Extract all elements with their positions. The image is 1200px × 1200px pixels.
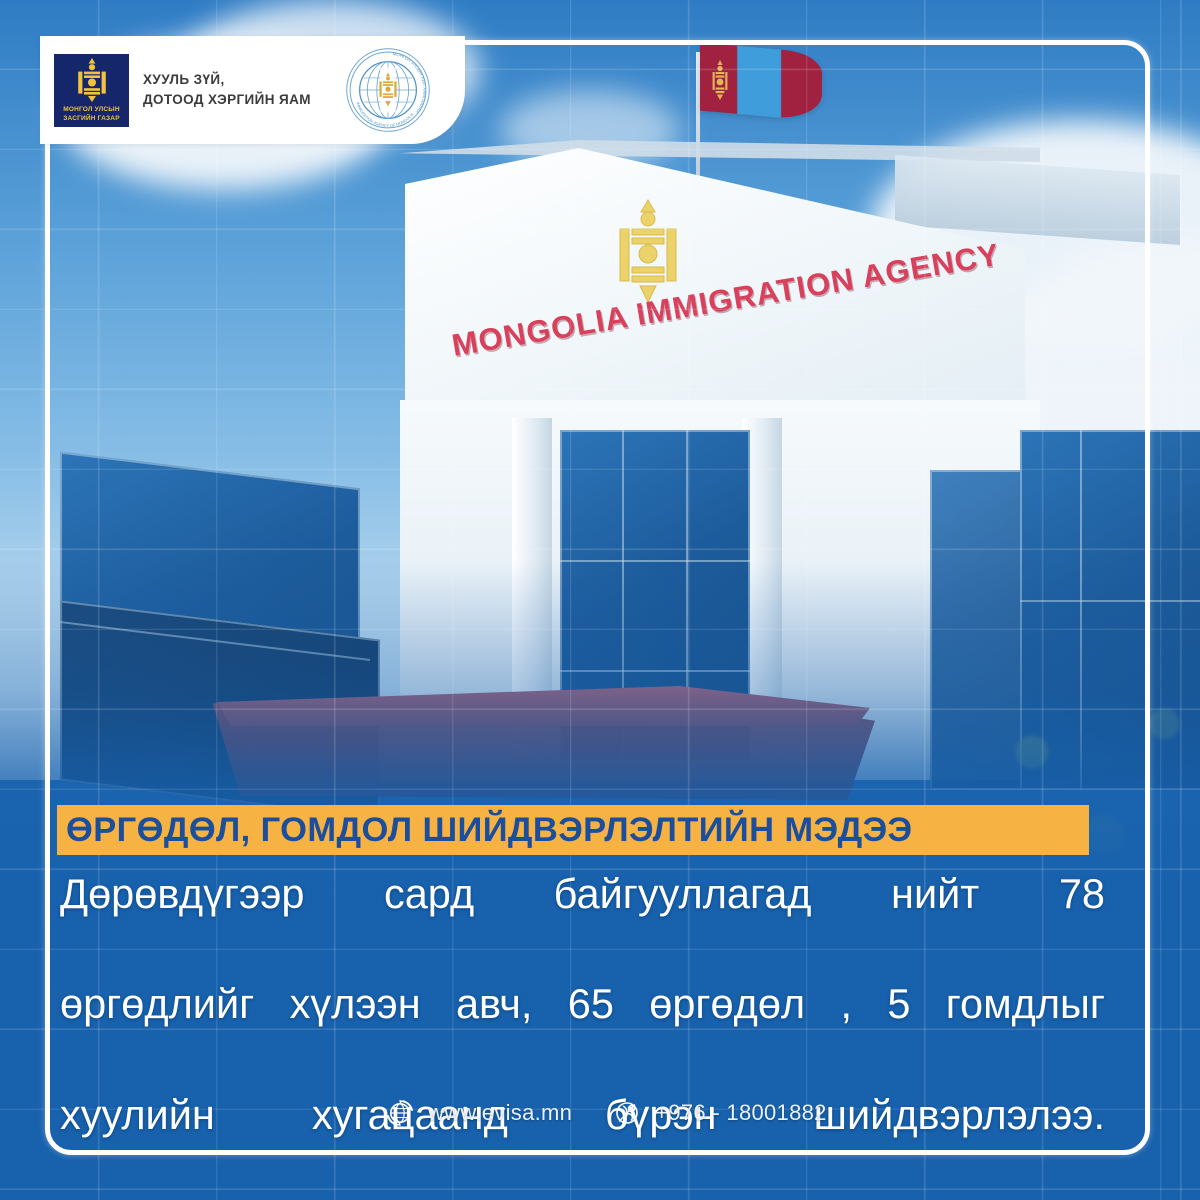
call-center-icon [612, 1098, 642, 1128]
gov-emblem-line1: МОНГОЛ УЛСЫН [63, 105, 120, 114]
body-line-1: Дөрөвдүгээр сард байгууллагад нийт 78 [60, 866, 1105, 976]
phone-label: +976 - 18001882 [655, 1102, 827, 1124]
phone-contact[interactable]: +976 - 18001882 [612, 1098, 827, 1128]
footer-contacts: www.evisa.mn +976 - 18001882 [385, 1098, 827, 1128]
globe-icon [385, 1098, 415, 1128]
soyombo-emblem-icon [77, 58, 107, 105]
ministry-line-2: ДОТООД ХЭРГИЙН ЯАМ [143, 90, 311, 110]
title-highlight-bar: ӨРГӨДӨЛ, ГОМДОЛ ШИЙДВЭРЛЭЛТИЙН МЭДЭЭ [57, 805, 1089, 855]
ministry-name: ХУУЛЬ ЗҮЙ, ДОТООД ХЭРГИЙН ЯАМ [143, 70, 311, 109]
gov-emblem-line2: ЗАСГИЙН ГАЗАР [63, 114, 120, 123]
page-title: ӨРГӨДӨЛ, ГОМДОЛ ШИЙДВЭРЛЭЛТИЙН МЭДЭЭ [57, 813, 913, 848]
header-bar: МОНГОЛ УЛСЫН ЗАСГИЙН ГАЗАР ХУУЛЬ ЗҮЙ, ДО… [40, 36, 465, 144]
ministry-line-1: ХУУЛЬ ЗҮЙ, [143, 70, 311, 90]
immigration-agency-seal-icon: МОНГОЛ УЛСЫН ХИЛ ХАМГААЛАХ IMMIGRATION A… [345, 47, 431, 133]
announcement-card: MONGOLIA IMMIGRATION AGENCY [0, 0, 1200, 1200]
website-label: www.evisa.mn [428, 1102, 572, 1124]
announcement-body: Дөрөвдүгээр сард байгууллагад нийт 78 өр… [60, 866, 1105, 1200]
government-emblem: МОНГОЛ УЛСЫН ЗАСГИЙН ГАЗАР [54, 54, 129, 127]
website-contact[interactable]: www.evisa.mn [385, 1098, 572, 1128]
body-line-2: өргөдлийг хүлээн авч, 65 өргөдөл , 5 гом… [60, 976, 1105, 1086]
